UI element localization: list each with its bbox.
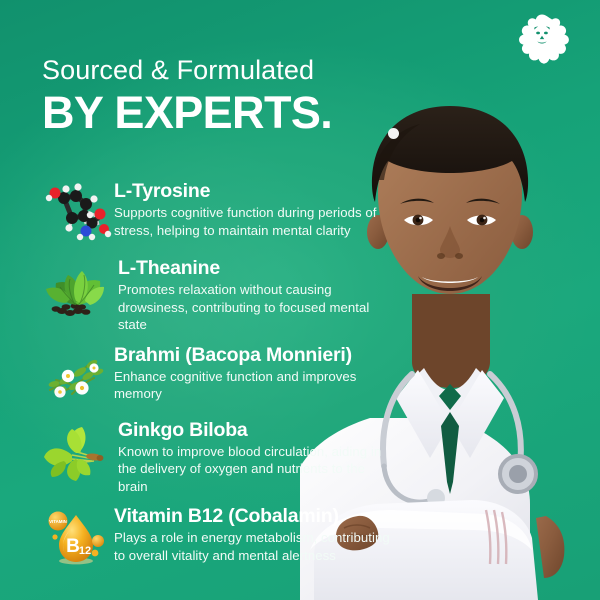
ginkgo-leaf-icon — [42, 421, 114, 483]
lion-head-icon — [514, 10, 570, 66]
ingredient-description: Promotes relaxation without causing drow… — [118, 281, 392, 334]
promotional-poster: Sourced & Formulated BY EXPERTS. — [0, 0, 600, 600]
ingredient-description: Supports cognitive function during perio… — [114, 204, 392, 239]
list-item: L-Theanine Promotes relaxation without c… — [42, 255, 392, 334]
ingredient-description: Plays a role in energy metabolism, contr… — [114, 529, 392, 564]
list-item: B 12 VITAMIN Vitamin B12 (Cobalamin) Pla… — [42, 503, 392, 569]
lens-flare-dot — [388, 128, 399, 139]
ingredient-name: L-Tyrosine — [114, 180, 392, 203]
ingredient-description: Known to improve blood circulation, aidi… — [118, 443, 392, 496]
ingredient-list: L-Tyrosine Supports cognitive function d… — [42, 178, 392, 577]
b12-badge-label: VITAMIN — [49, 519, 67, 524]
ingredient-name: Vitamin B12 (Cobalamin) — [114, 505, 392, 528]
list-item: L-Tyrosine Supports cognitive function d… — [42, 178, 392, 244]
vitamin-b12-droplet-icon: B 12 VITAMIN — [42, 507, 114, 569]
tyrosine-molecule-icon — [42, 182, 114, 244]
list-item: Brahmi (Bacopa Monnieri) Enhance cogniti… — [42, 342, 392, 408]
ingredient-name: L-Theanine — [118, 257, 392, 280]
b12-letter: B — [66, 536, 80, 557]
ingredient-description: Enhance cognitive function and improves … — [114, 368, 392, 403]
b12-subscript: 12 — [79, 545, 91, 557]
ingredient-name: Ginkgo Biloba — [118, 419, 392, 442]
list-item: Ginkgo Biloba Known to improve blood cir… — [42, 417, 392, 496]
ingredient-name: Brahmi (Bacopa Monnieri) — [114, 344, 392, 367]
brahmi-flower-icon — [42, 346, 114, 408]
tea-leaves-icon — [42, 259, 114, 321]
